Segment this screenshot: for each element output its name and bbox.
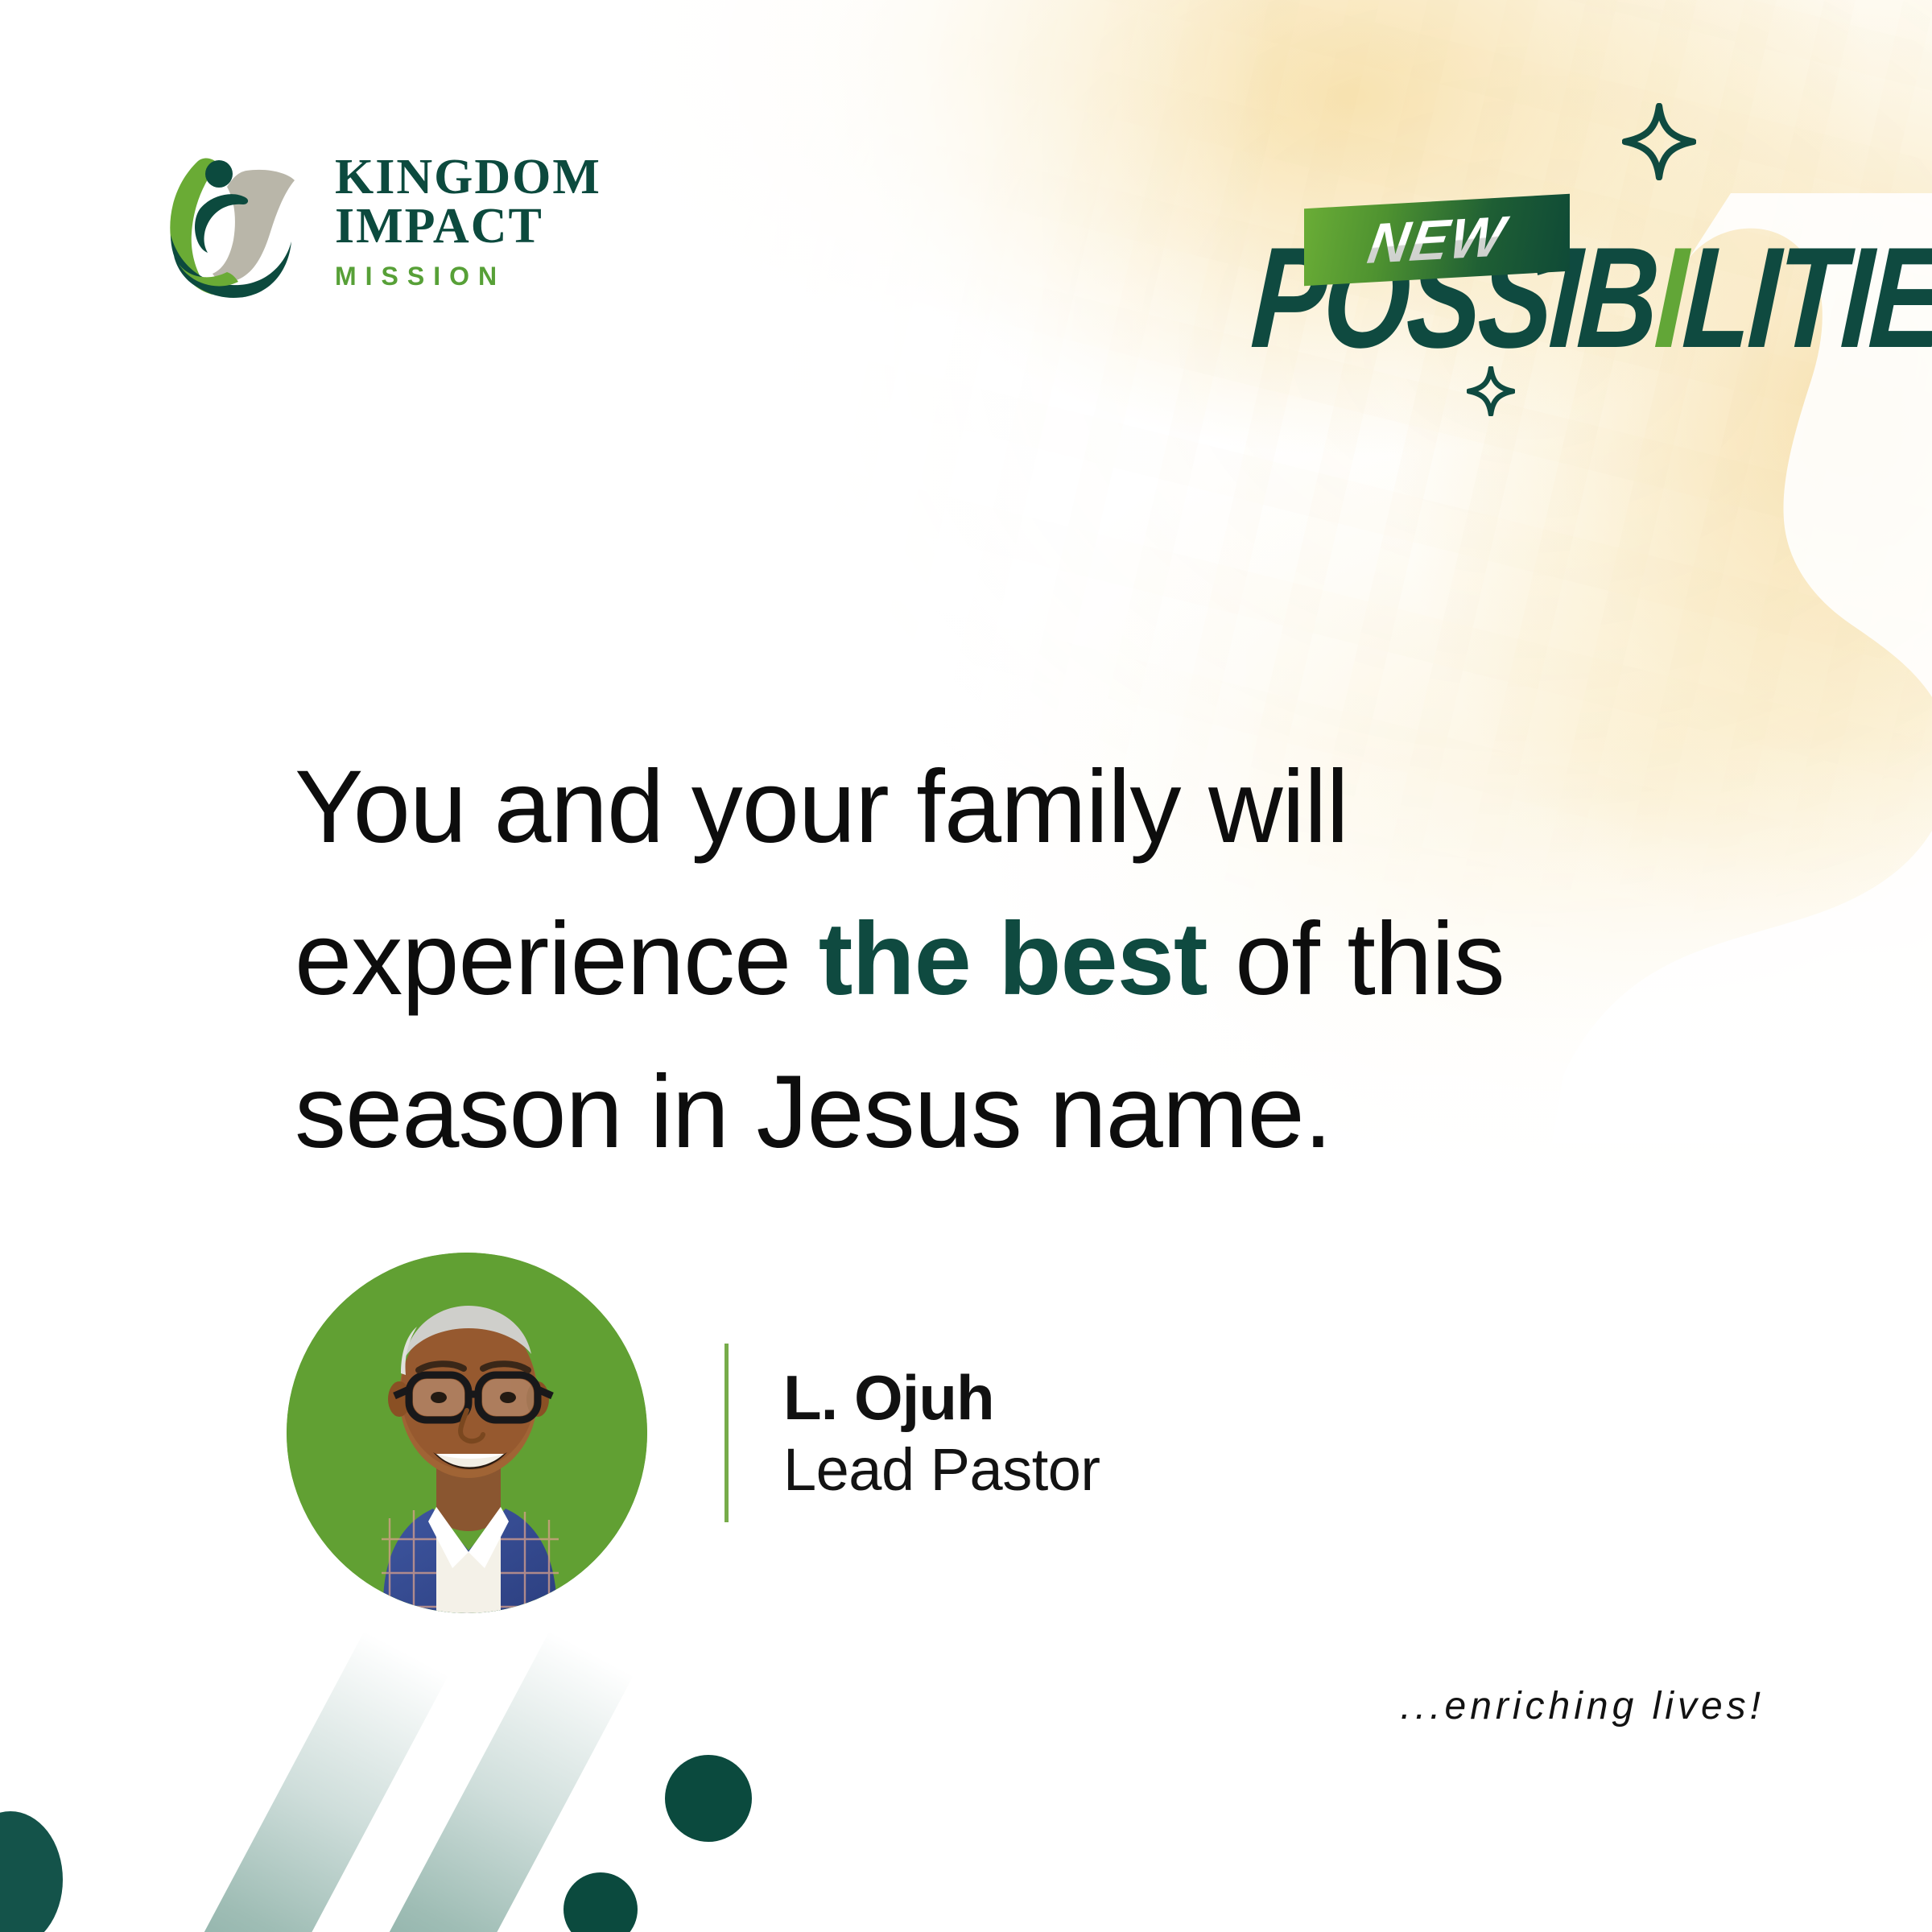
attribution-divider xyxy=(724,1344,729,1522)
badge-headline-part-b: LITIES xyxy=(1679,217,1932,378)
speaker-name: L. Ojuh xyxy=(783,1360,1100,1435)
leaf-person-logo-icon xyxy=(150,143,301,301)
quote-line-1: You and your family will xyxy=(295,749,1348,865)
four-point-star-icon xyxy=(1622,103,1696,180)
campaign-badge[interactable]: NEW POSSIBILITIES xyxy=(1256,89,1868,411)
quote-line-3: season in Jesus name. xyxy=(295,1055,1331,1170)
diagonal-stripe-decoration xyxy=(338,1631,634,1932)
badge-eyebrow-chip: NEW xyxy=(1304,194,1570,286)
social-post-canvas: KINGDOM IMPACT MISSION NEW POSSIBILITIES… xyxy=(0,0,1932,1932)
circle-dot-decoration xyxy=(0,1811,63,1932)
attribution-text: L. Ojuh Lead Pastor xyxy=(783,1360,1100,1506)
attribution-block: L. Ojuh Lead Pastor xyxy=(287,1253,1100,1613)
avatar-illustration xyxy=(287,1253,647,1613)
logo-wordmark: KINGDOM IMPACT MISSION xyxy=(335,153,601,292)
pastor-portrait-avatar xyxy=(287,1253,647,1613)
speaker-role: Lead Pastor xyxy=(783,1435,1100,1506)
circle-dot-decoration xyxy=(563,1872,638,1932)
bottom-decoration-group xyxy=(0,1586,926,1932)
quote-line-2-post: of this xyxy=(1207,902,1505,1017)
logo-line-impact: IMPACT xyxy=(335,202,601,251)
quote-line-2-pre: experience xyxy=(295,902,819,1017)
logo-line-kingdom: KINGDOM xyxy=(335,153,601,202)
circle-dot-decoration xyxy=(665,1755,752,1842)
logo-line-mission: MISSION xyxy=(335,262,601,291)
diagonal-stripe-decoration xyxy=(153,1631,448,1932)
quote-text: You and your family will experience the … xyxy=(295,731,1695,1188)
brand-logo[interactable]: KINGDOM IMPACT MISSION xyxy=(150,143,601,301)
quote-emphasis: the best xyxy=(819,902,1207,1017)
tagline: ...enriching lives! xyxy=(1401,1684,1765,1728)
badge-eyebrow-label: NEW xyxy=(1299,200,1575,279)
